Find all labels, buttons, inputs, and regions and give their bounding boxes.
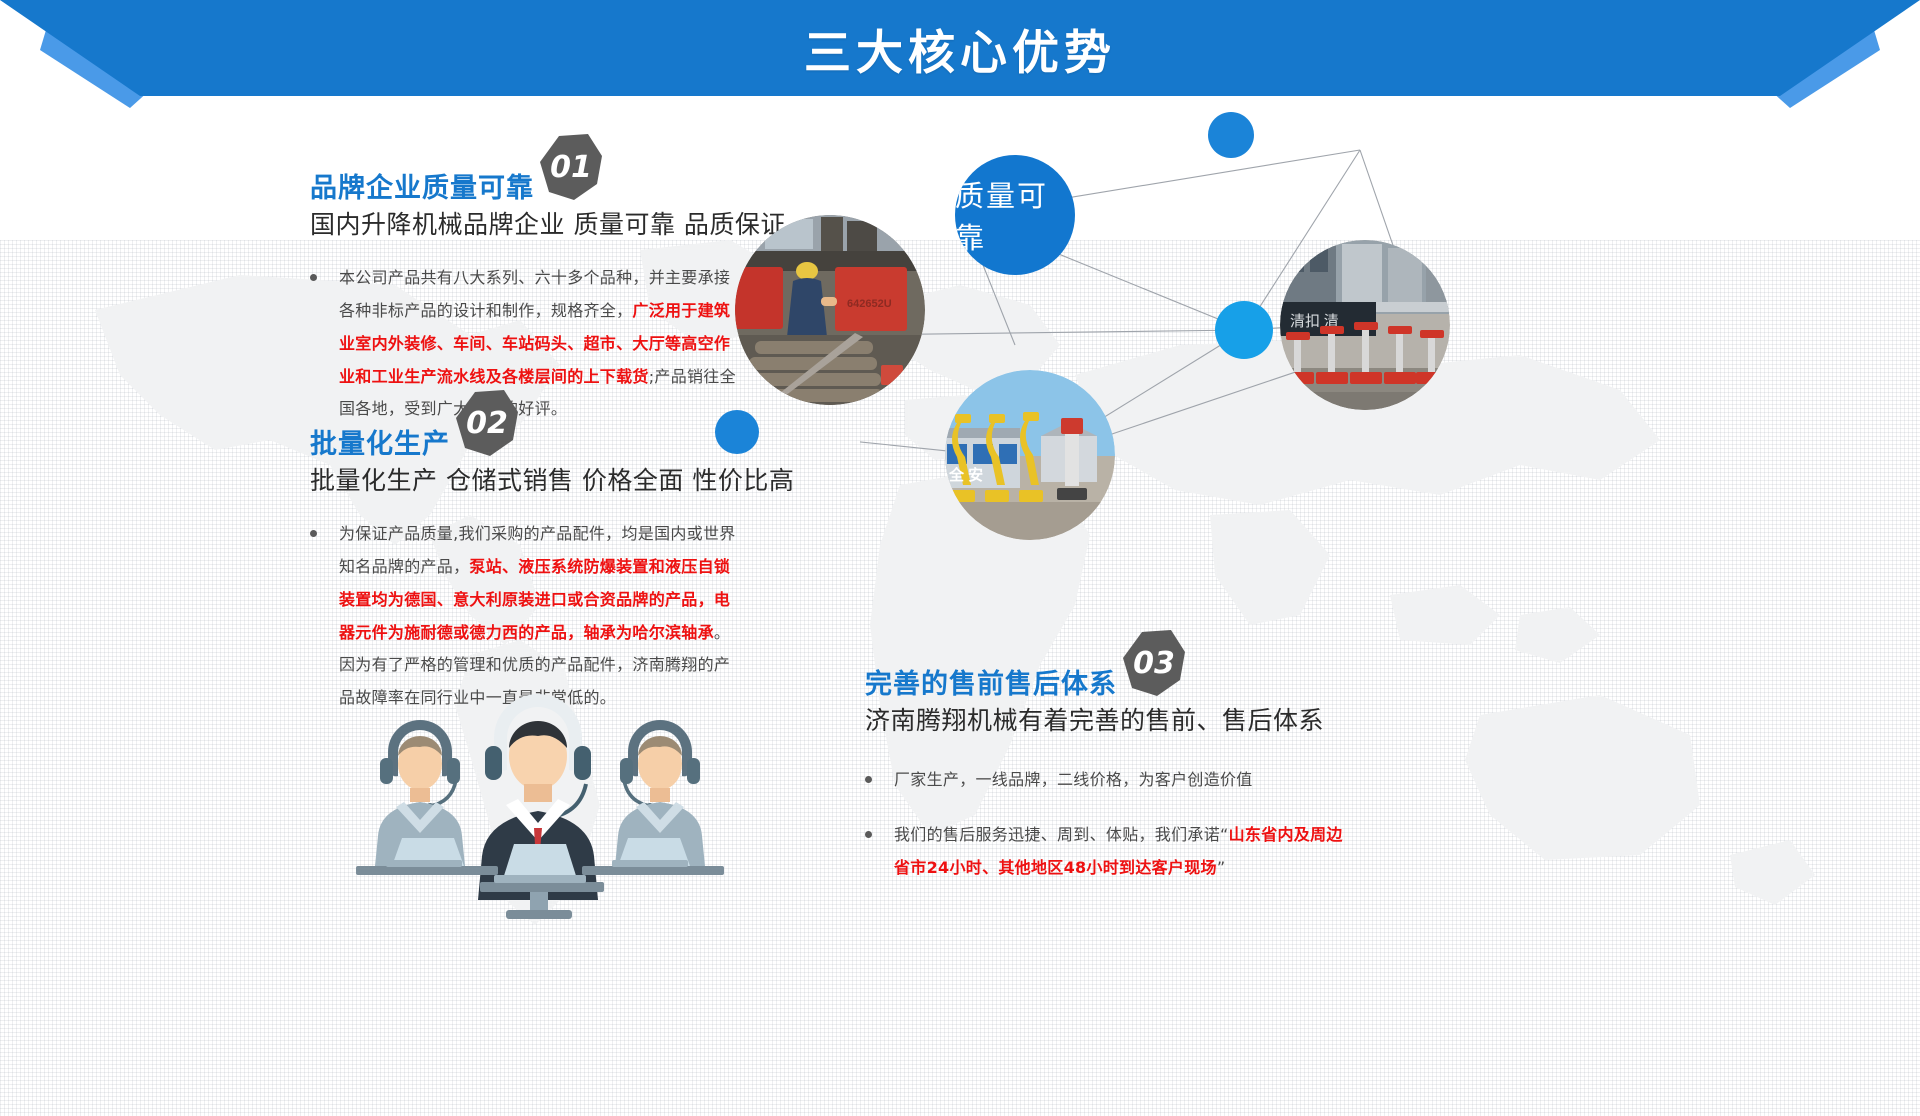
feature-03-number-badge: 03	[1123, 630, 1185, 696]
network-photo-factory: 642652U	[735, 215, 925, 405]
text-run: 厂家生产，一线品牌，二线价格，为客户创造价值	[894, 770, 1253, 789]
bullet-dot-icon	[865, 776, 872, 783]
feature-01-subtitle: 国内升降机械品牌企业 质量可靠 品质保证	[310, 209, 740, 240]
bullet-text: 我们的售后服务迅捷、周到、体贴，我们承诺“山东省内及周边省市24小时、其他地区4…	[894, 819, 1345, 885]
network-dot-node-3	[715, 410, 759, 454]
feature-03-title: 完善的售前售后体系	[865, 671, 1117, 698]
call-center-operators-illustration	[330, 660, 750, 920]
feature-03-bullet-list: 厂家生产，一线品牌，二线价格，为客户创造价值 我们的售后服务迅捷、周到、体贴，我…	[865, 764, 1345, 884]
bullet-dot-icon	[310, 274, 317, 281]
desk-row	[356, 838, 724, 919]
feature-02-title: 批量化生产	[310, 431, 450, 458]
feature-03-number: 03	[1123, 630, 1185, 696]
bullet-text: 厂家生产，一线品牌，二线价格，为客户创造价值	[894, 764, 1253, 797]
svg-text:全 安: 全 安	[948, 466, 983, 484]
text-run: ”	[1217, 858, 1226, 877]
call-center-illustration	[330, 660, 750, 920]
network-photo-storefront: 清扣 清	[1280, 240, 1450, 410]
feature-01-number: 01	[540, 134, 602, 200]
feature-block-03: 完善的售前售后体系 03 济南腾翔机械有着完善的售前、售后体系 厂家生产，一线品…	[865, 630, 1345, 905]
text-run: 我们的售后服务迅捷、周到、体贴，我们承诺“	[894, 825, 1229, 844]
feature-01-header: 品牌企业质量可靠 01	[310, 134, 740, 202]
network-photo-platforms: 全 安	[945, 370, 1115, 540]
bullet-item: 我们的售后服务迅捷、周到、体贴，我们承诺“山东省内及周边省市24小时、其他地区4…	[865, 819, 1345, 885]
feature-03-header: 完善的售前售后体系 03	[865, 630, 1345, 698]
page-title: 三大核心优势	[0, 0, 1920, 96]
aerial-work-platforms-yard-photo: 全 安	[945, 370, 1115, 540]
feature-02-header: 批量化生产 02	[310, 390, 740, 458]
svg-text:642652U: 642652U	[847, 298, 892, 310]
bullet-dot-icon	[310, 530, 317, 537]
feature-02-number-badge: 02	[456, 390, 518, 456]
bullet-item: 厂家生产，一线品牌，二线价格，为客户创造价值	[865, 764, 1345, 797]
feature-02-subtitle: 批量化生产 仓储式销售 价格全面 性价比高	[310, 465, 740, 496]
page-header-banner: 三大核心优势	[0, 0, 1920, 108]
red-lifts-storefront-photo: 清扣 清	[1280, 240, 1450, 410]
infographic-page: 三大核心优势 品牌企业质量可靠 01 国内升降机械品牌企业 质量可靠 品质保证 …	[0, 0, 1920, 1116]
network-main-node-label: 质量可靠	[955, 173, 1075, 257]
feature-01-number-badge: 01	[540, 134, 602, 200]
network-diagram: 质量可靠 642652U	[860, 120, 1920, 620]
feature-03-subtitle: 济南腾翔机械有着完善的售前、售后体系	[865, 705, 1345, 736]
bullet-dot-icon	[865, 831, 872, 838]
feature-02-number: 02	[456, 390, 518, 456]
network-main-node: 质量可靠	[955, 155, 1075, 275]
network-dot-node-2	[1208, 112, 1254, 158]
network-dot-node-1	[1215, 301, 1273, 359]
feature-01-title: 品牌企业质量可靠	[310, 175, 534, 202]
factory-cutting-machine-photo: 642652U	[735, 215, 925, 405]
